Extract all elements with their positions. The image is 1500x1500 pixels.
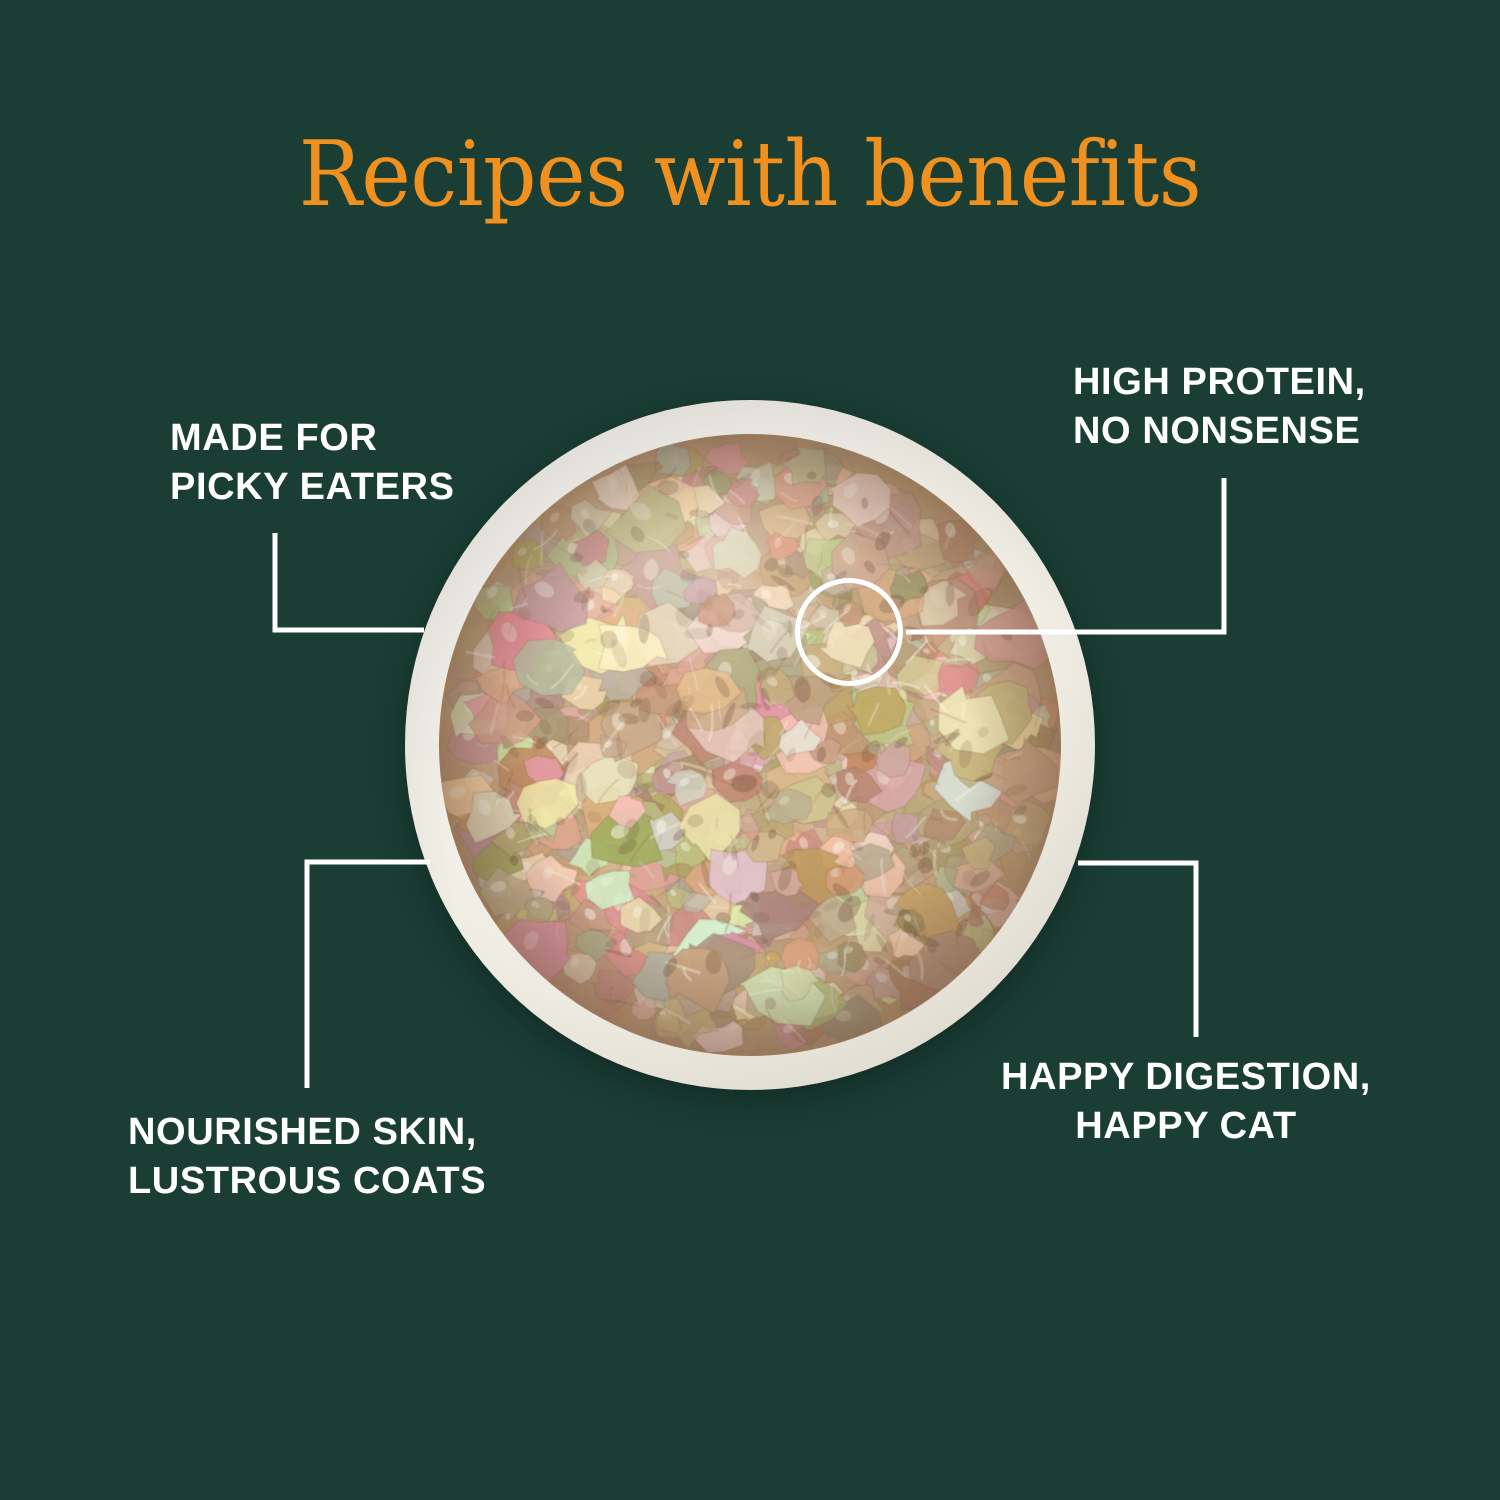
product-image-bowl <box>405 400 1095 1090</box>
callout-line-1: HIGH PROTEIN, <box>1073 358 1366 407</box>
callout-line-1: HAPPY DIGESTION, <box>1001 1053 1371 1102</box>
callout-label-nourished-skin-lustrous-coats: NOURISHED SKIN, LUSTROUS COATS <box>128 1108 486 1207</box>
callout-line-2: NO NONSENSE <box>1073 407 1366 456</box>
callout-label-made-for-picky-eaters: MADE FOR PICKY EATERS <box>170 414 455 513</box>
leader-line-happy-digestion <box>1078 863 1196 1037</box>
callout-line-2: LUSTROUS COATS <box>128 1157 486 1206</box>
leader-line-picky-eaters <box>275 533 424 630</box>
page-title: Recipes with benefits <box>53 130 1448 220</box>
callout-label-high-protein-no-nonsense: HIGH PROTEIN, NO NONSENSE <box>1073 358 1366 457</box>
callout-line-2: HAPPY CAT <box>1001 1102 1371 1151</box>
magnifier-circle-icon <box>795 578 903 686</box>
promotional-graphic: Recipes with benefits MADE FOR PICKY EAT… <box>0 0 1500 1500</box>
callout-line-1: MADE FOR <box>170 414 455 463</box>
callout-line-2: PICKY EATERS <box>170 463 455 512</box>
callout-line-1: NOURISHED SKIN, <box>128 1108 486 1157</box>
cat-food-texture <box>439 434 1061 1056</box>
bowl-interior-food <box>439 434 1061 1056</box>
callout-label-happy-digestion-happy-cat: HAPPY DIGESTION, HAPPY CAT <box>1001 1053 1371 1152</box>
